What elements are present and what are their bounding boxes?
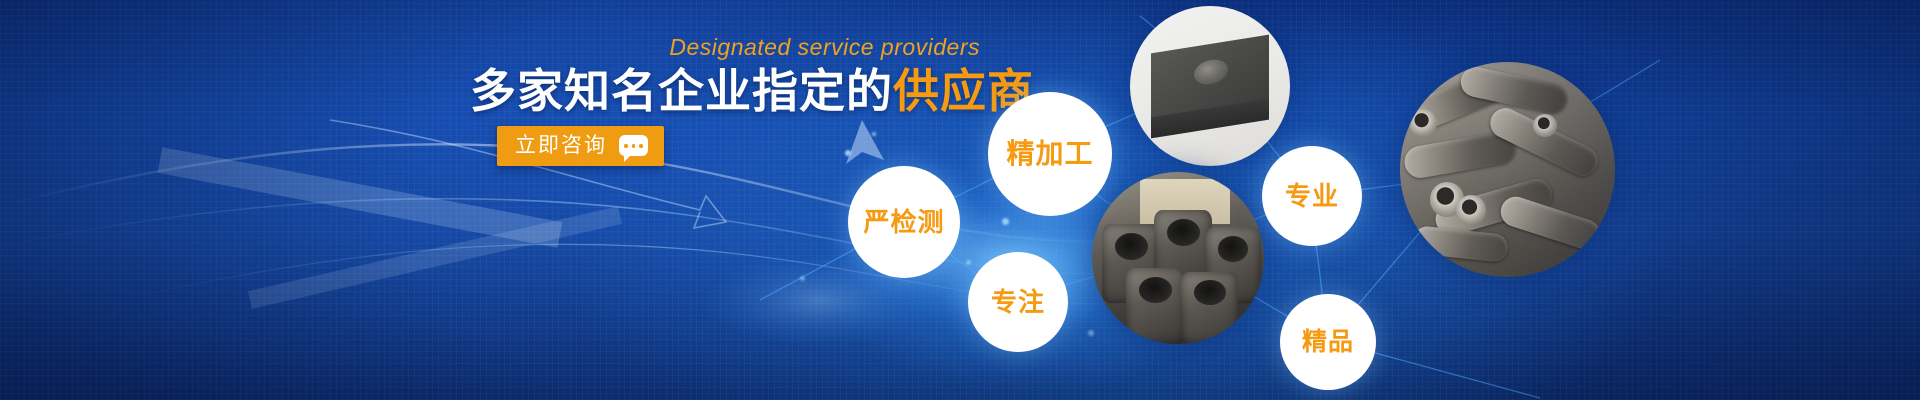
speech-bubble-icon <box>619 135 648 156</box>
hex-nut <box>1126 268 1184 344</box>
badge-premium[interactable]: 精品 <box>1280 294 1376 390</box>
steel-tube <box>1412 225 1509 263</box>
consult-now-button[interactable]: 立即咨询 <box>497 126 664 166</box>
badge-professional-label: 专业 <box>1285 183 1339 209</box>
eyebrow-tagline: Designated service providers <box>470 34 990 61</box>
promo-banner: Designated service providers 多家知名企业指定的供应… <box>0 0 1920 400</box>
spark-dot <box>845 150 851 156</box>
spark-dot <box>800 276 805 281</box>
hex-nut <box>1181 272 1238 344</box>
steel-ring <box>1533 114 1557 138</box>
spark-dot <box>872 132 876 136</box>
steel-ring <box>1409 109 1437 137</box>
photo-steel-tubes-image <box>1400 62 1615 277</box>
badge-premium-label: 精品 <box>1302 330 1354 355</box>
spark-dot <box>1002 218 1009 225</box>
badge-focused[interactable]: 专注 <box>968 252 1068 352</box>
badge-strict-inspection[interactable]: 严检测 <box>848 166 960 278</box>
consult-now-label: 立即咨询 <box>515 135 607 156</box>
headline-white-text: 多家知名企业指定的 <box>470 65 893 117</box>
photo-hex-nuts[interactable] <box>1092 172 1264 344</box>
badge-fine-machining[interactable]: 精加工 <box>988 92 1112 216</box>
badge-focused-label: 专注 <box>991 289 1045 315</box>
spark-dot <box>966 260 971 265</box>
badge-fine-machining-label: 精加工 <box>1006 140 1093 168</box>
page-title: 多家知名企业指定的供应商 <box>470 65 990 117</box>
photo-hex-nuts-image <box>1092 172 1264 344</box>
badge-professional[interactable]: 专业 <box>1262 146 1362 246</box>
photo-square-plate-image <box>1130 6 1290 166</box>
photo-square-plate[interactable] <box>1130 6 1290 166</box>
badge-strict-inspection-label: 严检测 <box>863 209 944 235</box>
photo-steel-tubes[interactable] <box>1400 62 1615 277</box>
banner-copy: Designated service providers 多家知名企业指定的供应… <box>470 34 990 117</box>
